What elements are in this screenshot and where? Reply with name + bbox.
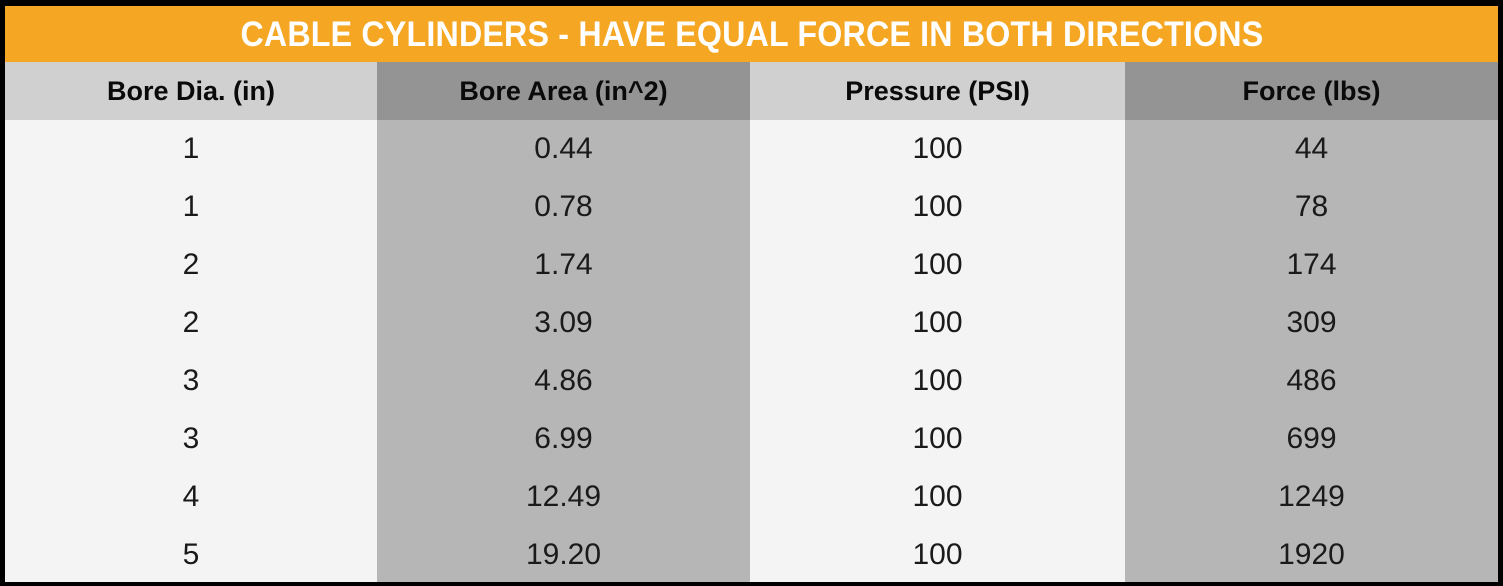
table-row: 4 12.49 100 1249 <box>5 468 1498 526</box>
cell-bore-dia: 3 <box>5 352 377 410</box>
column-header-bore-dia[interactable]: Bore Dia. (in) <box>5 62 377 120</box>
cell-bore-dia: 2 <box>5 236 377 294</box>
table-header: Bore Dia. (in) Bore Area (in^2) Pressure… <box>5 62 1498 120</box>
cell-bore-dia: 1 <box>5 178 377 236</box>
cell-bore-area: 19.20 <box>377 526 750 582</box>
cell-bore-dia: 4 <box>5 468 377 526</box>
cell-bore-dia: 3 <box>5 410 377 468</box>
cable-cylinders-table-container: CABLE CYLINDERS - HAVE EQUAL FORCE IN BO… <box>5 6 1498 582</box>
cell-force: 174 <box>1125 236 1498 294</box>
cell-force: 486 <box>1125 352 1498 410</box>
cell-force: 78 <box>1125 178 1498 236</box>
cell-bore-area: 0.44 <box>377 120 750 178</box>
cell-force: 1920 <box>1125 526 1498 582</box>
table-row: 3 6.99 100 699 <box>5 410 1498 468</box>
column-header-pressure[interactable]: Pressure (PSI) <box>750 62 1125 120</box>
cell-bore-dia: 1 <box>5 120 377 178</box>
cell-bore-area: 12.49 <box>377 468 750 526</box>
cell-force: 44 <box>1125 120 1498 178</box>
cell-force: 1249 <box>1125 468 1498 526</box>
cell-bore-area: 1.74 <box>377 236 750 294</box>
cell-bore-area: 3.09 <box>377 294 750 352</box>
page-title: CABLE CYLINDERS - HAVE EQUAL FORCE IN BO… <box>240 17 1263 52</box>
table-row: 1 0.44 100 44 <box>5 120 1498 178</box>
cell-bore-dia: 2 <box>5 294 377 352</box>
table-row: 3 4.86 100 486 <box>5 352 1498 410</box>
screenshot-canvas: CABLE CYLINDERS - HAVE EQUAL FORCE IN BO… <box>0 0 1503 586</box>
cell-pressure: 100 <box>750 120 1125 178</box>
table-row: 2 3.09 100 309 <box>5 294 1498 352</box>
cell-bore-area: 6.99 <box>377 410 750 468</box>
cell-pressure: 100 <box>750 236 1125 294</box>
table-row: 1 0.78 100 78 <box>5 178 1498 236</box>
cell-pressure: 100 <box>750 178 1125 236</box>
column-header-bore-area[interactable]: Bore Area (in^2) <box>377 62 750 120</box>
cell-bore-dia: 5 <box>5 526 377 582</box>
table-header-row: Bore Dia. (in) Bore Area (in^2) Pressure… <box>5 62 1498 120</box>
cell-pressure: 100 <box>750 468 1125 526</box>
cell-force: 699 <box>1125 410 1498 468</box>
table-row: 5 19.20 100 1920 <box>5 526 1498 582</box>
cell-pressure: 100 <box>750 352 1125 410</box>
cell-pressure: 100 <box>750 294 1125 352</box>
cable-cylinders-table: Bore Dia. (in) Bore Area (in^2) Pressure… <box>5 62 1498 582</box>
cell-pressure: 100 <box>750 410 1125 468</box>
cell-bore-area: 0.78 <box>377 178 750 236</box>
cell-force: 309 <box>1125 294 1498 352</box>
cell-pressure: 100 <box>750 526 1125 582</box>
table-body: 1 0.44 100 44 1 0.78 100 78 2 1.74 100 1… <box>5 120 1498 582</box>
table-title-band: CABLE CYLINDERS - HAVE EQUAL FORCE IN BO… <box>5 6 1498 62</box>
column-header-force[interactable]: Force (lbs) <box>1125 62 1498 120</box>
cell-bore-area: 4.86 <box>377 352 750 410</box>
table-row: 2 1.74 100 174 <box>5 236 1498 294</box>
